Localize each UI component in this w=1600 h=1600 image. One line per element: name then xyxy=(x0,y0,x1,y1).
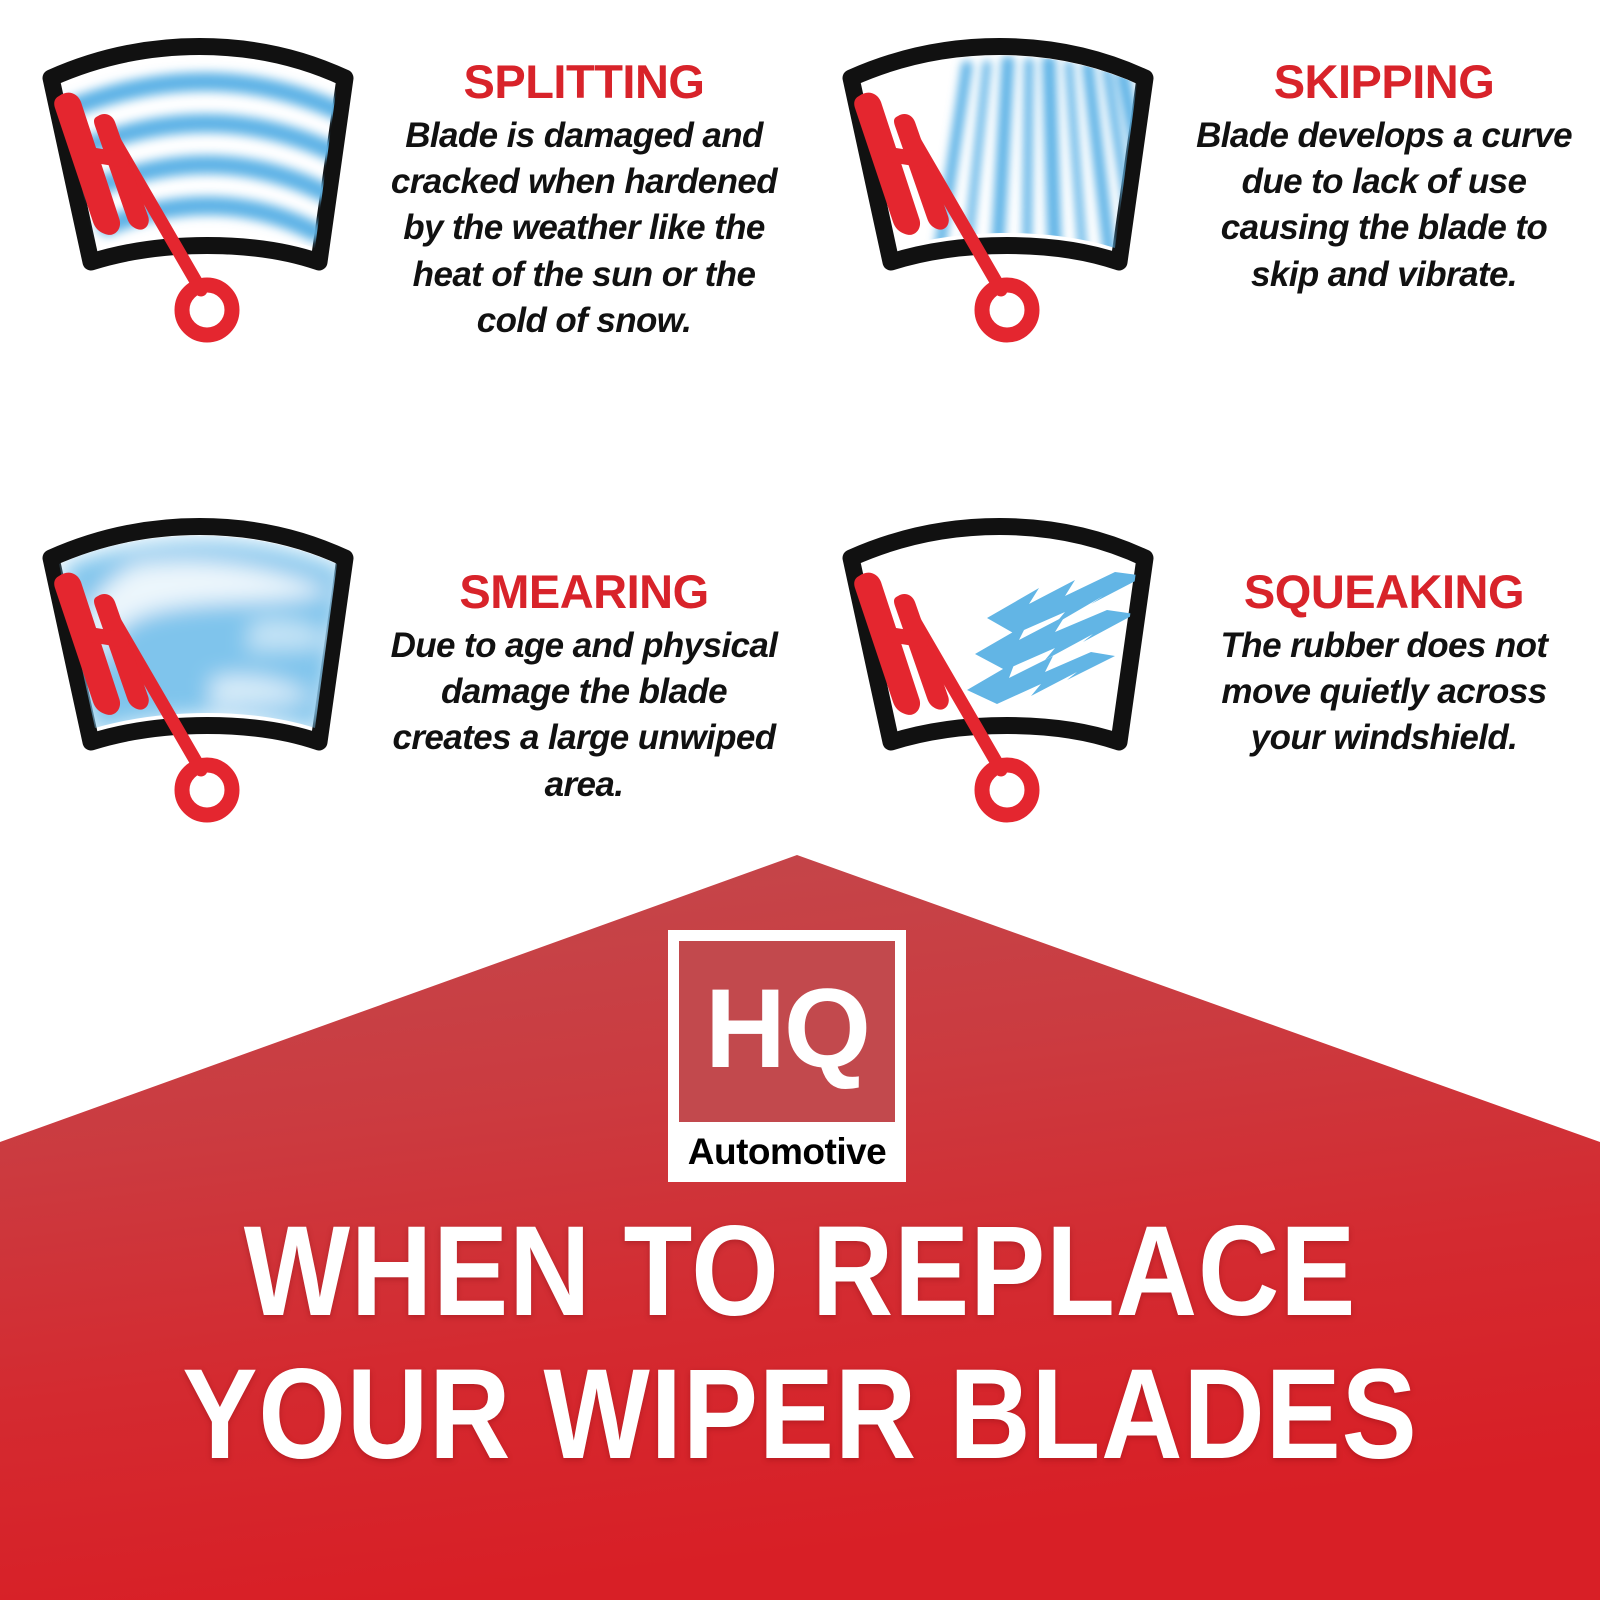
issue-title: SKIPPING xyxy=(1190,58,1578,105)
issue-description: Blade develops a curve due to lack of us… xyxy=(1190,113,1578,298)
windshield-wiper-squeaking-icon xyxy=(800,480,1190,832)
issue-card-skipping: SKIPPING Blade develops a curve due to l… xyxy=(800,0,1600,430)
issue-description: The rubber does not move quietly across … xyxy=(1190,623,1578,762)
hq-automotive-logo: HQ Automotive xyxy=(668,930,906,1182)
issue-text-skipping: SKIPPING Blade develops a curve due to l… xyxy=(1190,0,1600,298)
headline-line-1: WHEN TO REPLACE xyxy=(96,1200,1504,1343)
headline: WHEN TO REPLACE YOUR WIPER BLADES xyxy=(0,1200,1600,1487)
issue-card-splitting: SPLITTING Blade is damaged and cracked w… xyxy=(0,0,800,430)
logo-mark-panel: HQ xyxy=(679,941,895,1122)
logo-mark-text: HQ xyxy=(705,973,869,1085)
windshield-wiper-smearing-icon xyxy=(0,480,390,832)
issues-grid: SPLITTING Blade is damaged and cracked w… xyxy=(0,0,1600,860)
headline-line-2: YOUR WIPER BLADES xyxy=(96,1343,1504,1486)
issue-title: SQUEAKING xyxy=(1190,568,1578,615)
issue-text-splitting: SPLITTING Blade is damaged and cracked w… xyxy=(390,0,800,344)
windshield-wiper-splitting-icon xyxy=(0,0,390,352)
logo-subtitle: Automotive xyxy=(679,1122,895,1182)
windshield-wiper-skipping-icon xyxy=(800,0,1190,352)
issue-description: Blade is damaged and cracked when harden… xyxy=(390,113,778,344)
issue-description: Due to age and physical damage the blade… xyxy=(390,623,778,808)
issue-text-smearing: SMEARING Due to age and physical damage … xyxy=(390,480,800,808)
issue-title: SMEARING xyxy=(390,568,778,615)
issue-title: SPLITTING xyxy=(390,58,778,105)
issue-text-squeaking: SQUEAKING The rubber does not move quiet… xyxy=(1190,480,1600,762)
